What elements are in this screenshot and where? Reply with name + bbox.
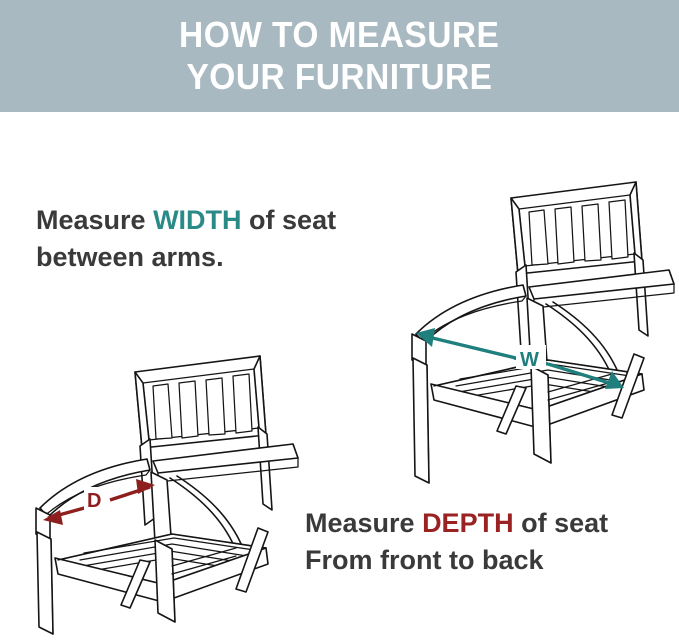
header-banner: HOW TO MEASURE YOUR FURNITURE <box>0 0 679 112</box>
chair-illustration-width: W <box>398 138 679 490</box>
measure-label-depth: D <box>87 490 101 512</box>
caption-width-line-1: Measure WIDTH of seat <box>36 202 336 239</box>
caption-depth-line-1: Measure DEPTH of seat <box>305 505 608 542</box>
measure-label-width: W <box>520 349 539 371</box>
caption-depth-prefix: Measure <box>305 508 422 538</box>
infographic-root: HOW TO MEASURE YOUR FURNITURE Measure WI… <box>0 0 679 642</box>
caption-width-suffix: of seat <box>242 205 337 235</box>
caption-depth-suffix: of seat <box>514 508 609 538</box>
caption-measure-width: Measure WIDTH of seat between arms. <box>36 202 336 276</box>
caption-depth-keyword: DEPTH <box>422 508 514 538</box>
header-title-line-1: HOW TO MEASURE <box>179 14 499 56</box>
caption-width-line-2: between arms. <box>36 239 336 276</box>
chair-illustration-depth: D <box>22 322 303 642</box>
caption-depth-line-2: From front to back <box>305 542 608 579</box>
header-title-line-2: YOUR FURNITURE <box>187 56 493 98</box>
caption-width-keyword: WIDTH <box>153 205 241 235</box>
caption-measure-depth: Measure DEPTH of seat From front to back <box>305 505 608 579</box>
caption-width-prefix: Measure <box>36 205 153 235</box>
